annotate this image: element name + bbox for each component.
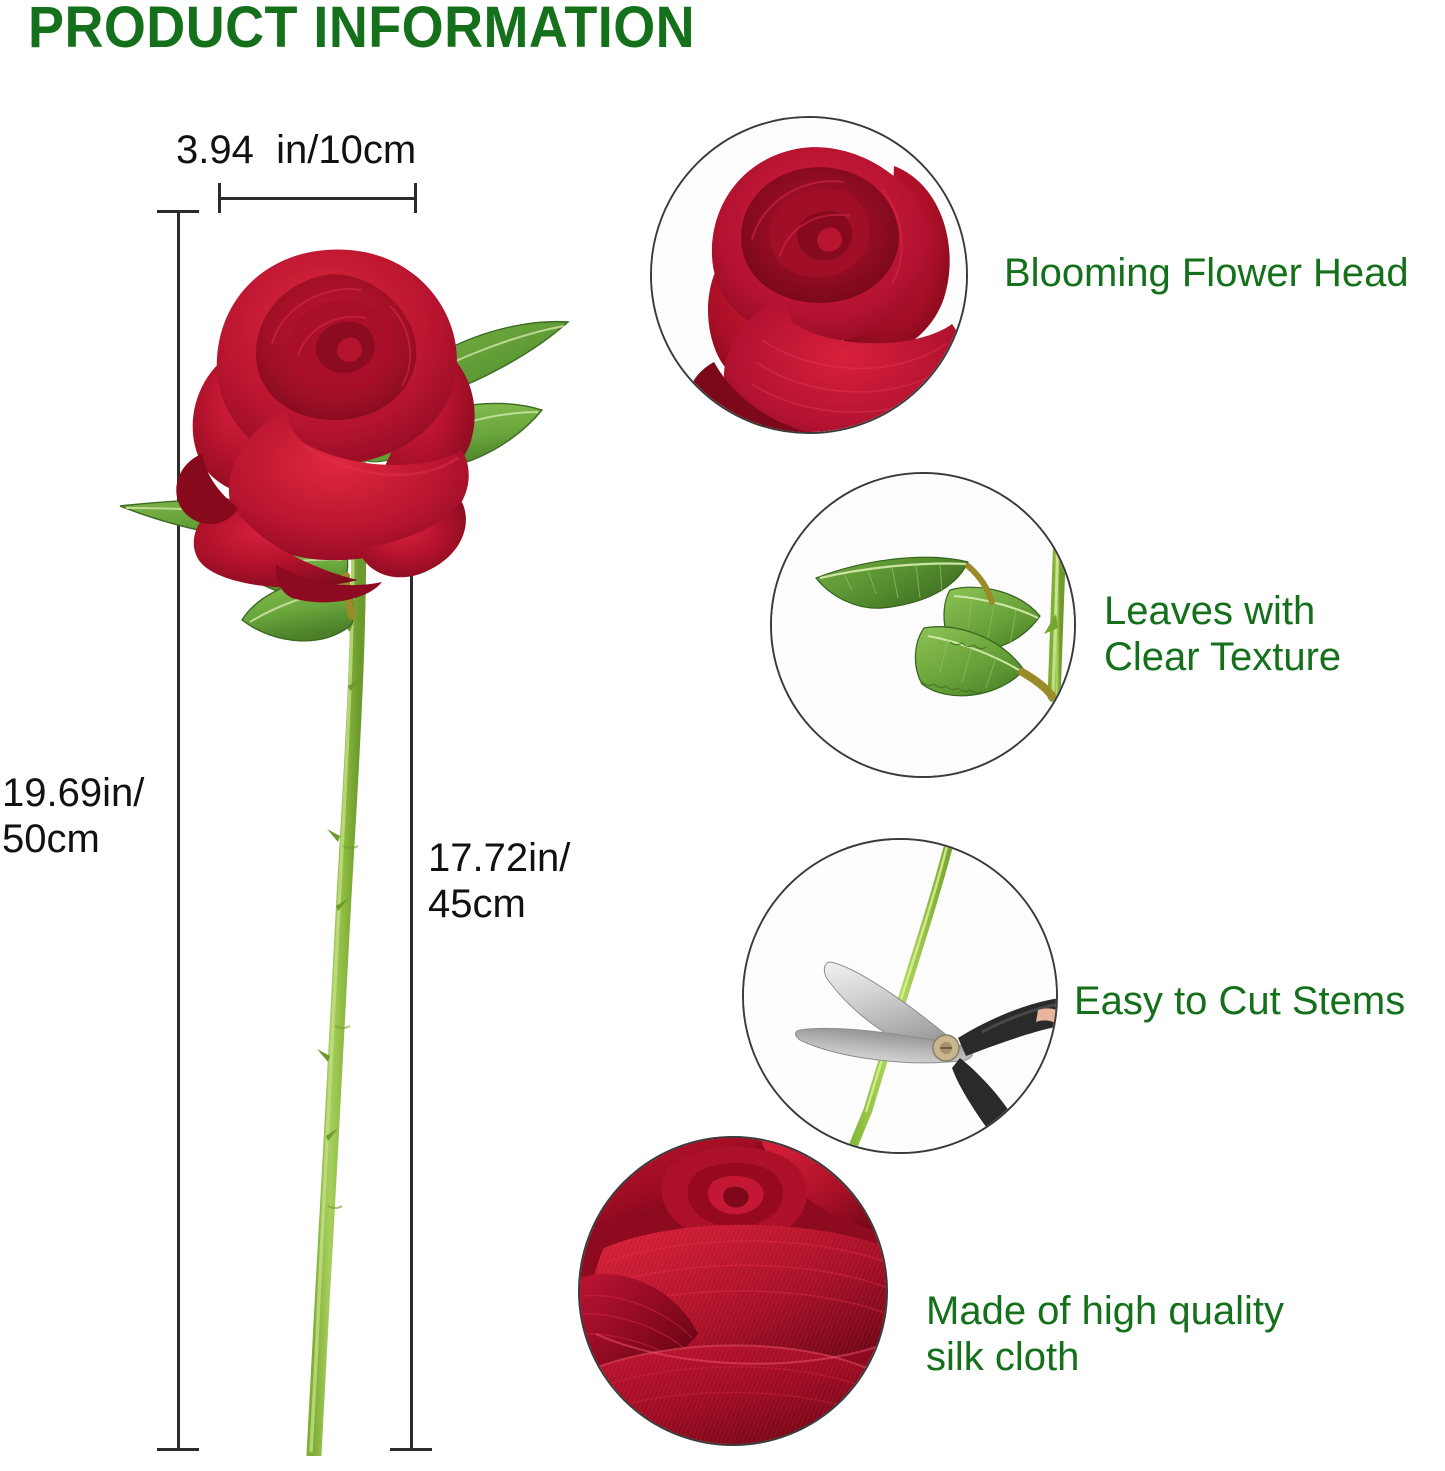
silk-petal-closeup-image (578, 1136, 888, 1446)
page-title: PRODUCT INFORMATION (28, 0, 695, 60)
main-rose-image (90, 196, 570, 1456)
leaf-closeup-image (770, 472, 1076, 778)
infographic-canvas: PRODUCT INFORMATION 3.94 in/10cm 19.69in… (0, 0, 1445, 1471)
scissors-cutting-stem-image (742, 838, 1058, 1154)
callout-label-leaves: Leaves with Clear Texture (1104, 588, 1341, 681)
callout-label-flower-head: Blooming Flower Head (1004, 250, 1409, 296)
callout-label-stems: Easy to Cut Stems (1074, 978, 1405, 1024)
flower-width-label: 3.94 in/10cm (176, 128, 416, 174)
callout-label-silk: Made of high quality silk cloth (926, 1288, 1284, 1381)
flower-head-closeup-image (650, 116, 968, 434)
